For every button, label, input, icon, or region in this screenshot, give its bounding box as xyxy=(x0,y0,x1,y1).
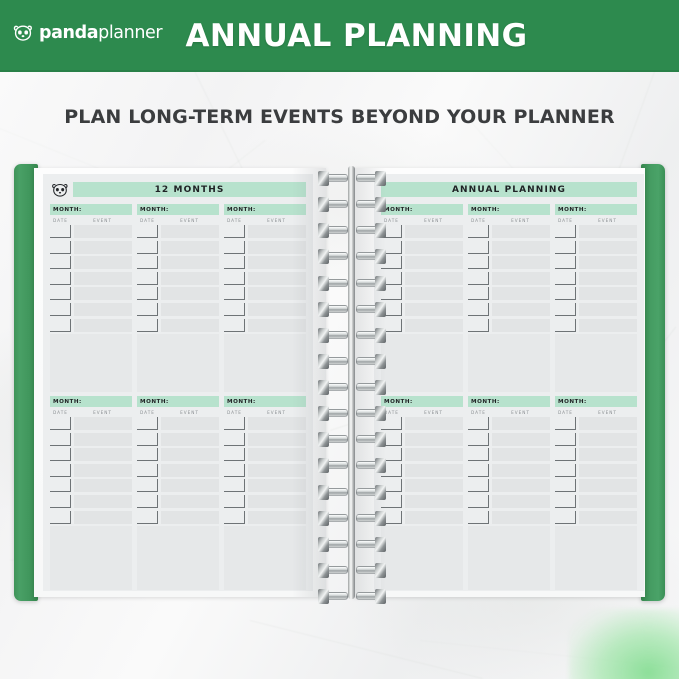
entry-row[interactable] xyxy=(50,303,132,317)
event-input-box[interactable] xyxy=(74,464,132,477)
notes-area[interactable] xyxy=(468,526,550,590)
month-column[interactable]: MONTH:DATEEVENT xyxy=(468,204,550,384)
entry-row[interactable] xyxy=(381,319,463,333)
entry-row[interactable] xyxy=(224,417,306,431)
month-column[interactable]: MONTH:DATEEVENT xyxy=(555,204,637,384)
event-input-box[interactable] xyxy=(579,225,637,238)
spiral-ring-clip xyxy=(318,197,329,212)
entry-row[interactable] xyxy=(50,241,132,255)
event-input-box[interactable] xyxy=(74,495,132,508)
date-input-box[interactable] xyxy=(137,319,158,332)
spiral-ring-clip xyxy=(375,328,386,343)
month-column[interactable]: MONTH:DATEEVENT xyxy=(468,396,550,582)
entry-row[interactable] xyxy=(50,272,132,286)
event-input-box[interactable] xyxy=(492,417,550,430)
event-input-box[interactable] xyxy=(74,287,132,300)
date-input-box[interactable] xyxy=(555,479,576,492)
date-input-box[interactable] xyxy=(137,241,158,254)
date-input-box[interactable] xyxy=(224,464,245,477)
event-input-box[interactable] xyxy=(405,495,463,508)
entry-row[interactable] xyxy=(468,256,550,270)
date-input-box[interactable] xyxy=(555,287,576,300)
entry-row[interactable] xyxy=(137,511,219,525)
date-input-box[interactable] xyxy=(50,303,71,316)
date-input-box[interactable] xyxy=(224,272,245,285)
date-input-box[interactable] xyxy=(50,511,71,524)
entry-row[interactable] xyxy=(50,464,132,478)
event-input-box[interactable] xyxy=(74,241,132,254)
date-input-box[interactable] xyxy=(468,448,489,461)
event-input-box[interactable] xyxy=(579,495,637,508)
month-column[interactable]: MONTH:DATEEVENT xyxy=(50,396,132,582)
date-input-box[interactable] xyxy=(468,241,489,254)
date-input-box[interactable] xyxy=(468,303,489,316)
date-input-box[interactable] xyxy=(468,464,489,477)
date-input-box[interactable] xyxy=(555,448,576,461)
entry-row[interactable] xyxy=(468,319,550,333)
event-input-box[interactable] xyxy=(248,433,306,446)
entry-row[interactable] xyxy=(224,319,306,333)
entry-row[interactable] xyxy=(224,433,306,447)
entry-row[interactable] xyxy=(468,303,550,317)
entry-row[interactable] xyxy=(381,511,463,525)
event-input-box[interactable] xyxy=(248,287,306,300)
date-input-box[interactable] xyxy=(555,256,576,269)
event-input-box[interactable] xyxy=(74,417,132,430)
date-input-box[interactable] xyxy=(137,433,158,446)
entry-row[interactable] xyxy=(468,479,550,493)
date-input-box[interactable] xyxy=(50,241,71,254)
event-input-box[interactable] xyxy=(579,256,637,269)
entry-row[interactable] xyxy=(381,433,463,447)
event-input-box[interactable] xyxy=(405,511,463,524)
event-input-box[interactable] xyxy=(248,241,306,254)
entry-row[interactable] xyxy=(137,417,219,431)
event-input-box[interactable] xyxy=(161,241,219,254)
entry-row[interactable] xyxy=(381,464,463,478)
date-input-box[interactable] xyxy=(468,225,489,238)
event-input-box[interactable] xyxy=(161,272,219,285)
event-input-box[interactable] xyxy=(161,479,219,492)
entry-row[interactable] xyxy=(555,256,637,270)
date-input-box[interactable] xyxy=(555,464,576,477)
event-input-box[interactable] xyxy=(492,511,550,524)
date-input-box[interactable] xyxy=(50,448,71,461)
date-input-box[interactable] xyxy=(224,479,245,492)
date-input-box[interactable] xyxy=(468,256,489,269)
entry-row[interactable] xyxy=(224,241,306,255)
date-input-box[interactable] xyxy=(555,303,576,316)
date-input-box[interactable] xyxy=(50,479,71,492)
event-input-box[interactable] xyxy=(74,272,132,285)
entry-row[interactable] xyxy=(224,479,306,493)
entry-row[interactable] xyxy=(224,464,306,478)
subtitle-text: PLAN LONG-TERM EVENTS BEYOND YOUR PLANNE… xyxy=(0,106,679,128)
entry-row[interactable] xyxy=(555,319,637,333)
event-input-box[interactable] xyxy=(161,319,219,332)
right-month-block: MONTH:DATEEVENTMONTH:DATEEVENTMONTH:DATE… xyxy=(381,396,637,582)
event-input-box[interactable] xyxy=(248,464,306,477)
date-input-box[interactable] xyxy=(137,272,158,285)
month-column[interactable]: MONTH:DATEEVENT xyxy=(50,204,132,384)
spiral-ring-clip xyxy=(318,249,329,264)
date-input-box[interactable] xyxy=(137,225,158,238)
event-input-box[interactable] xyxy=(405,433,463,446)
event-input-box[interactable] xyxy=(248,225,306,238)
entry-row[interactable] xyxy=(137,448,219,462)
spiral-ring-clip xyxy=(375,458,386,473)
entry-row[interactable] xyxy=(555,433,637,447)
event-input-box[interactable] xyxy=(405,241,463,254)
date-input-box[interactable] xyxy=(555,433,576,446)
entry-row[interactable] xyxy=(555,241,637,255)
month-label: MONTH: xyxy=(468,204,550,215)
event-input-box[interactable] xyxy=(579,464,637,477)
notes-area[interactable] xyxy=(381,526,463,590)
entry-row[interactable] xyxy=(50,225,132,239)
event-input-box[interactable] xyxy=(74,433,132,446)
date-input-box[interactable] xyxy=(468,495,489,508)
event-input-box[interactable] xyxy=(405,417,463,430)
entry-row[interactable] xyxy=(137,241,219,255)
spiral-ring-clip xyxy=(375,406,386,421)
date-input-box[interactable] xyxy=(224,319,245,332)
date-input-box[interactable] xyxy=(50,256,71,269)
spiral-ring xyxy=(317,353,387,370)
entry-row[interactable] xyxy=(224,225,306,239)
entry-row[interactable] xyxy=(224,303,306,317)
date-input-box[interactable] xyxy=(224,511,245,524)
event-input-box[interactable] xyxy=(74,448,132,461)
entry-row[interactable] xyxy=(137,303,219,317)
entry-row[interactable] xyxy=(50,511,132,525)
spiral-ring-clip xyxy=(375,563,386,578)
date-input-box[interactable] xyxy=(137,303,158,316)
date-column-header: DATE xyxy=(468,218,491,223)
event-input-box[interactable] xyxy=(161,464,219,477)
event-input-box[interactable] xyxy=(74,303,132,316)
entry-row[interactable] xyxy=(381,241,463,255)
entry-row[interactable] xyxy=(381,287,463,301)
event-input-box[interactable] xyxy=(405,303,463,316)
entry-row[interactable] xyxy=(137,319,219,333)
date-input-box[interactable] xyxy=(50,433,71,446)
event-input-box[interactable] xyxy=(161,417,219,430)
date-input-box[interactable] xyxy=(224,433,245,446)
date-input-box[interactable] xyxy=(50,272,71,285)
date-input-box[interactable] xyxy=(137,448,158,461)
entry-row[interactable] xyxy=(224,511,306,525)
event-input-box[interactable] xyxy=(579,303,637,316)
event-input-box[interactable] xyxy=(579,241,637,254)
entry-row[interactable] xyxy=(468,433,550,447)
spiral-ring-clip xyxy=(375,589,386,604)
date-column-header: DATE xyxy=(137,410,160,415)
entry-row[interactable] xyxy=(224,287,306,301)
entry-row[interactable] xyxy=(224,495,306,509)
date-input-box[interactable] xyxy=(224,417,245,430)
event-input-box[interactable] xyxy=(74,511,132,524)
entry-row[interactable] xyxy=(381,417,463,431)
event-input-box[interactable] xyxy=(405,287,463,300)
event-input-box[interactable] xyxy=(492,272,550,285)
month-column[interactable]: MONTH:DATEEVENT xyxy=(224,204,306,384)
spiral-ring-clip xyxy=(318,171,329,186)
entry-row[interactable] xyxy=(555,464,637,478)
spiral-ring xyxy=(317,405,387,422)
entry-row[interactable] xyxy=(468,511,550,525)
entry-row[interactable] xyxy=(224,256,306,270)
event-input-box[interactable] xyxy=(579,448,637,461)
event-column-header: EVENT xyxy=(404,218,463,223)
date-input-box[interactable] xyxy=(137,479,158,492)
event-input-box[interactable] xyxy=(161,511,219,524)
column-headers: DATEEVENT xyxy=(137,215,219,225)
entry-row[interactable] xyxy=(50,256,132,270)
entry-row[interactable] xyxy=(381,272,463,286)
entry-row[interactable] xyxy=(137,479,219,493)
notes-area[interactable] xyxy=(224,334,306,392)
date-input-box[interactable] xyxy=(50,495,71,508)
entry-row[interactable] xyxy=(468,417,550,431)
entry-row[interactable] xyxy=(555,272,637,286)
date-input-box[interactable] xyxy=(555,511,576,524)
event-input-box[interactable] xyxy=(161,448,219,461)
event-input-box[interactable] xyxy=(74,225,132,238)
date-input-box[interactable] xyxy=(137,464,158,477)
event-input-box[interactable] xyxy=(248,495,306,508)
date-input-box[interactable] xyxy=(137,417,158,430)
event-input-box[interactable] xyxy=(492,433,550,446)
entry-row[interactable] xyxy=(555,287,637,301)
entry-row[interactable] xyxy=(468,448,550,462)
date-column-header: DATE xyxy=(50,218,73,223)
event-input-box[interactable] xyxy=(579,433,637,446)
date-input-box[interactable] xyxy=(555,495,576,508)
month-column[interactable]: MONTH:DATEEVENT xyxy=(224,396,306,582)
date-input-box[interactable] xyxy=(224,256,245,269)
entry-row[interactable] xyxy=(381,495,463,509)
entry-row[interactable] xyxy=(50,448,132,462)
event-input-box[interactable] xyxy=(405,256,463,269)
entry-row[interactable] xyxy=(555,417,637,431)
notes-area[interactable] xyxy=(555,334,637,392)
date-input-box[interactable] xyxy=(468,417,489,430)
entry-row[interactable] xyxy=(50,433,132,447)
event-input-box[interactable] xyxy=(492,479,550,492)
date-input-box[interactable] xyxy=(50,287,71,300)
notes-area[interactable] xyxy=(555,526,637,590)
event-input-box[interactable] xyxy=(492,495,550,508)
date-input-box[interactable] xyxy=(50,319,71,332)
spiral-ring-clip xyxy=(318,563,329,578)
date-input-box[interactable] xyxy=(468,479,489,492)
spiral-ring-clip xyxy=(375,302,386,317)
event-input-box[interactable] xyxy=(161,256,219,269)
date-input-box[interactable] xyxy=(468,433,489,446)
entry-row[interactable] xyxy=(555,495,637,509)
entry-row[interactable] xyxy=(50,495,132,509)
entry-row[interactable] xyxy=(468,287,550,301)
column-headers: DATEEVENT xyxy=(137,407,219,417)
event-input-box[interactable] xyxy=(579,287,637,300)
event-input-box[interactable] xyxy=(579,319,637,332)
entry-row[interactable] xyxy=(555,479,637,493)
spiral-ring-clip xyxy=(375,432,386,447)
entry-row[interactable] xyxy=(468,464,550,478)
event-input-box[interactable] xyxy=(161,303,219,316)
event-input-box[interactable] xyxy=(405,272,463,285)
event-input-box[interactable] xyxy=(248,272,306,285)
event-input-box[interactable] xyxy=(492,256,550,269)
month-column[interactable]: MONTH:DATEEVENT xyxy=(137,204,219,384)
entry-row[interactable] xyxy=(555,511,637,525)
entry-row[interactable] xyxy=(555,448,637,462)
green-paint-smudge xyxy=(569,609,679,679)
planner-sheet-right: ANNUAL PLANNING MONTH:DATEEVENTMONTH:DAT… xyxy=(374,174,644,591)
date-input-box[interactable] xyxy=(137,287,158,300)
left-page-title-row: 12 MONTHS xyxy=(50,182,306,197)
entry-row[interactable] xyxy=(137,433,219,447)
entry-row[interactable] xyxy=(381,479,463,493)
notes-area[interactable] xyxy=(381,334,463,392)
event-input-box[interactable] xyxy=(405,225,463,238)
notes-area[interactable] xyxy=(137,334,219,392)
event-input-box[interactable] xyxy=(405,479,463,492)
spiral-ring xyxy=(317,562,387,579)
event-input-box[interactable] xyxy=(248,448,306,461)
date-input-box[interactable] xyxy=(224,495,245,508)
entry-row[interactable] xyxy=(468,495,550,509)
event-input-box[interactable] xyxy=(405,464,463,477)
event-input-box[interactable] xyxy=(492,464,550,477)
event-input-box[interactable] xyxy=(161,433,219,446)
date-input-box[interactable] xyxy=(137,511,158,524)
entry-row[interactable] xyxy=(137,225,219,239)
event-input-box[interactable] xyxy=(74,319,132,332)
date-input-box[interactable] xyxy=(555,241,576,254)
date-input-box[interactable] xyxy=(468,287,489,300)
date-input-box[interactable] xyxy=(224,303,245,316)
entry-row[interactable] xyxy=(50,417,132,431)
event-input-box[interactable] xyxy=(492,287,550,300)
date-input-box[interactable] xyxy=(555,272,576,285)
event-input-box[interactable] xyxy=(248,479,306,492)
month-label: MONTH: xyxy=(555,396,637,407)
event-input-box[interactable] xyxy=(492,319,550,332)
month-column[interactable]: MONTH:DATEEVENT xyxy=(381,204,463,384)
event-column-header: EVENT xyxy=(578,218,637,223)
notes-area[interactable] xyxy=(50,526,132,590)
entry-row[interactable] xyxy=(137,272,219,286)
notes-area[interactable] xyxy=(468,334,550,392)
spiral-ring-clip xyxy=(375,197,386,212)
entry-row[interactable] xyxy=(555,225,637,239)
entry-row[interactable] xyxy=(137,495,219,509)
entry-row[interactable] xyxy=(50,287,132,301)
event-input-box[interactable] xyxy=(248,511,306,524)
entry-row[interactable] xyxy=(137,464,219,478)
event-input-box[interactable] xyxy=(492,303,550,316)
date-input-box[interactable] xyxy=(137,256,158,269)
month-column[interactable]: MONTH:DATEEVENT xyxy=(555,396,637,582)
date-input-box[interactable] xyxy=(50,225,71,238)
event-input-box[interactable] xyxy=(579,511,637,524)
entry-row[interactable] xyxy=(381,256,463,270)
notes-area[interactable] xyxy=(50,334,132,392)
event-input-box[interactable] xyxy=(248,303,306,316)
date-input-box[interactable] xyxy=(555,319,576,332)
date-input-box[interactable] xyxy=(224,225,245,238)
event-input-box[interactable] xyxy=(161,225,219,238)
event-input-box[interactable] xyxy=(405,319,463,332)
entry-row[interactable] xyxy=(224,272,306,286)
spiral-ring-clip xyxy=(318,537,329,552)
date-input-box[interactable] xyxy=(555,417,576,430)
date-input-box[interactable] xyxy=(468,272,489,285)
event-input-box[interactable] xyxy=(74,256,132,269)
entry-rows xyxy=(137,225,219,333)
event-input-box[interactable] xyxy=(161,287,219,300)
date-input-box[interactable] xyxy=(50,417,71,430)
event-column-header: EVENT xyxy=(491,410,550,415)
date-input-box[interactable] xyxy=(468,319,489,332)
column-headers: DATEEVENT xyxy=(468,215,550,225)
event-input-box[interactable] xyxy=(579,272,637,285)
entry-row[interactable] xyxy=(381,448,463,462)
event-input-box[interactable] xyxy=(492,241,550,254)
month-label: MONTH: xyxy=(137,396,219,407)
date-input-box[interactable] xyxy=(224,287,245,300)
entry-row[interactable] xyxy=(50,479,132,493)
entry-row[interactable] xyxy=(137,256,219,270)
notes-area[interactable] xyxy=(137,526,219,590)
month-column[interactable]: MONTH:DATEEVENT xyxy=(137,396,219,582)
spiral-ring-clip xyxy=(375,249,386,264)
entry-row[interactable] xyxy=(468,241,550,255)
date-input-box[interactable] xyxy=(137,495,158,508)
event-input-box[interactable] xyxy=(161,495,219,508)
date-column-header: DATE xyxy=(555,218,578,223)
event-input-box[interactable] xyxy=(405,448,463,461)
event-input-box[interactable] xyxy=(248,319,306,332)
date-input-box[interactable] xyxy=(224,448,245,461)
date-input-box[interactable] xyxy=(50,464,71,477)
notes-area[interactable] xyxy=(224,526,306,590)
entry-row[interactable] xyxy=(468,225,550,239)
entry-row[interactable] xyxy=(381,303,463,317)
date-input-box[interactable] xyxy=(224,241,245,254)
event-input-box[interactable] xyxy=(579,479,637,492)
event-input-box[interactable] xyxy=(492,448,550,461)
event-input-box[interactable] xyxy=(492,225,550,238)
entry-row[interactable] xyxy=(555,303,637,317)
spiral-ring-clip xyxy=(318,458,329,473)
date-input-box[interactable] xyxy=(468,511,489,524)
entry-row[interactable] xyxy=(468,272,550,286)
spiral-ring xyxy=(317,379,387,396)
entry-row[interactable] xyxy=(381,225,463,239)
event-input-box[interactable] xyxy=(248,256,306,269)
event-input-box[interactable] xyxy=(248,417,306,430)
event-input-box[interactable] xyxy=(579,417,637,430)
entry-row[interactable] xyxy=(224,448,306,462)
entry-row[interactable] xyxy=(137,287,219,301)
entry-row[interactable] xyxy=(50,319,132,333)
month-column[interactable]: MONTH:DATEEVENT xyxy=(381,396,463,582)
event-input-box[interactable] xyxy=(74,479,132,492)
date-input-box[interactable] xyxy=(555,225,576,238)
